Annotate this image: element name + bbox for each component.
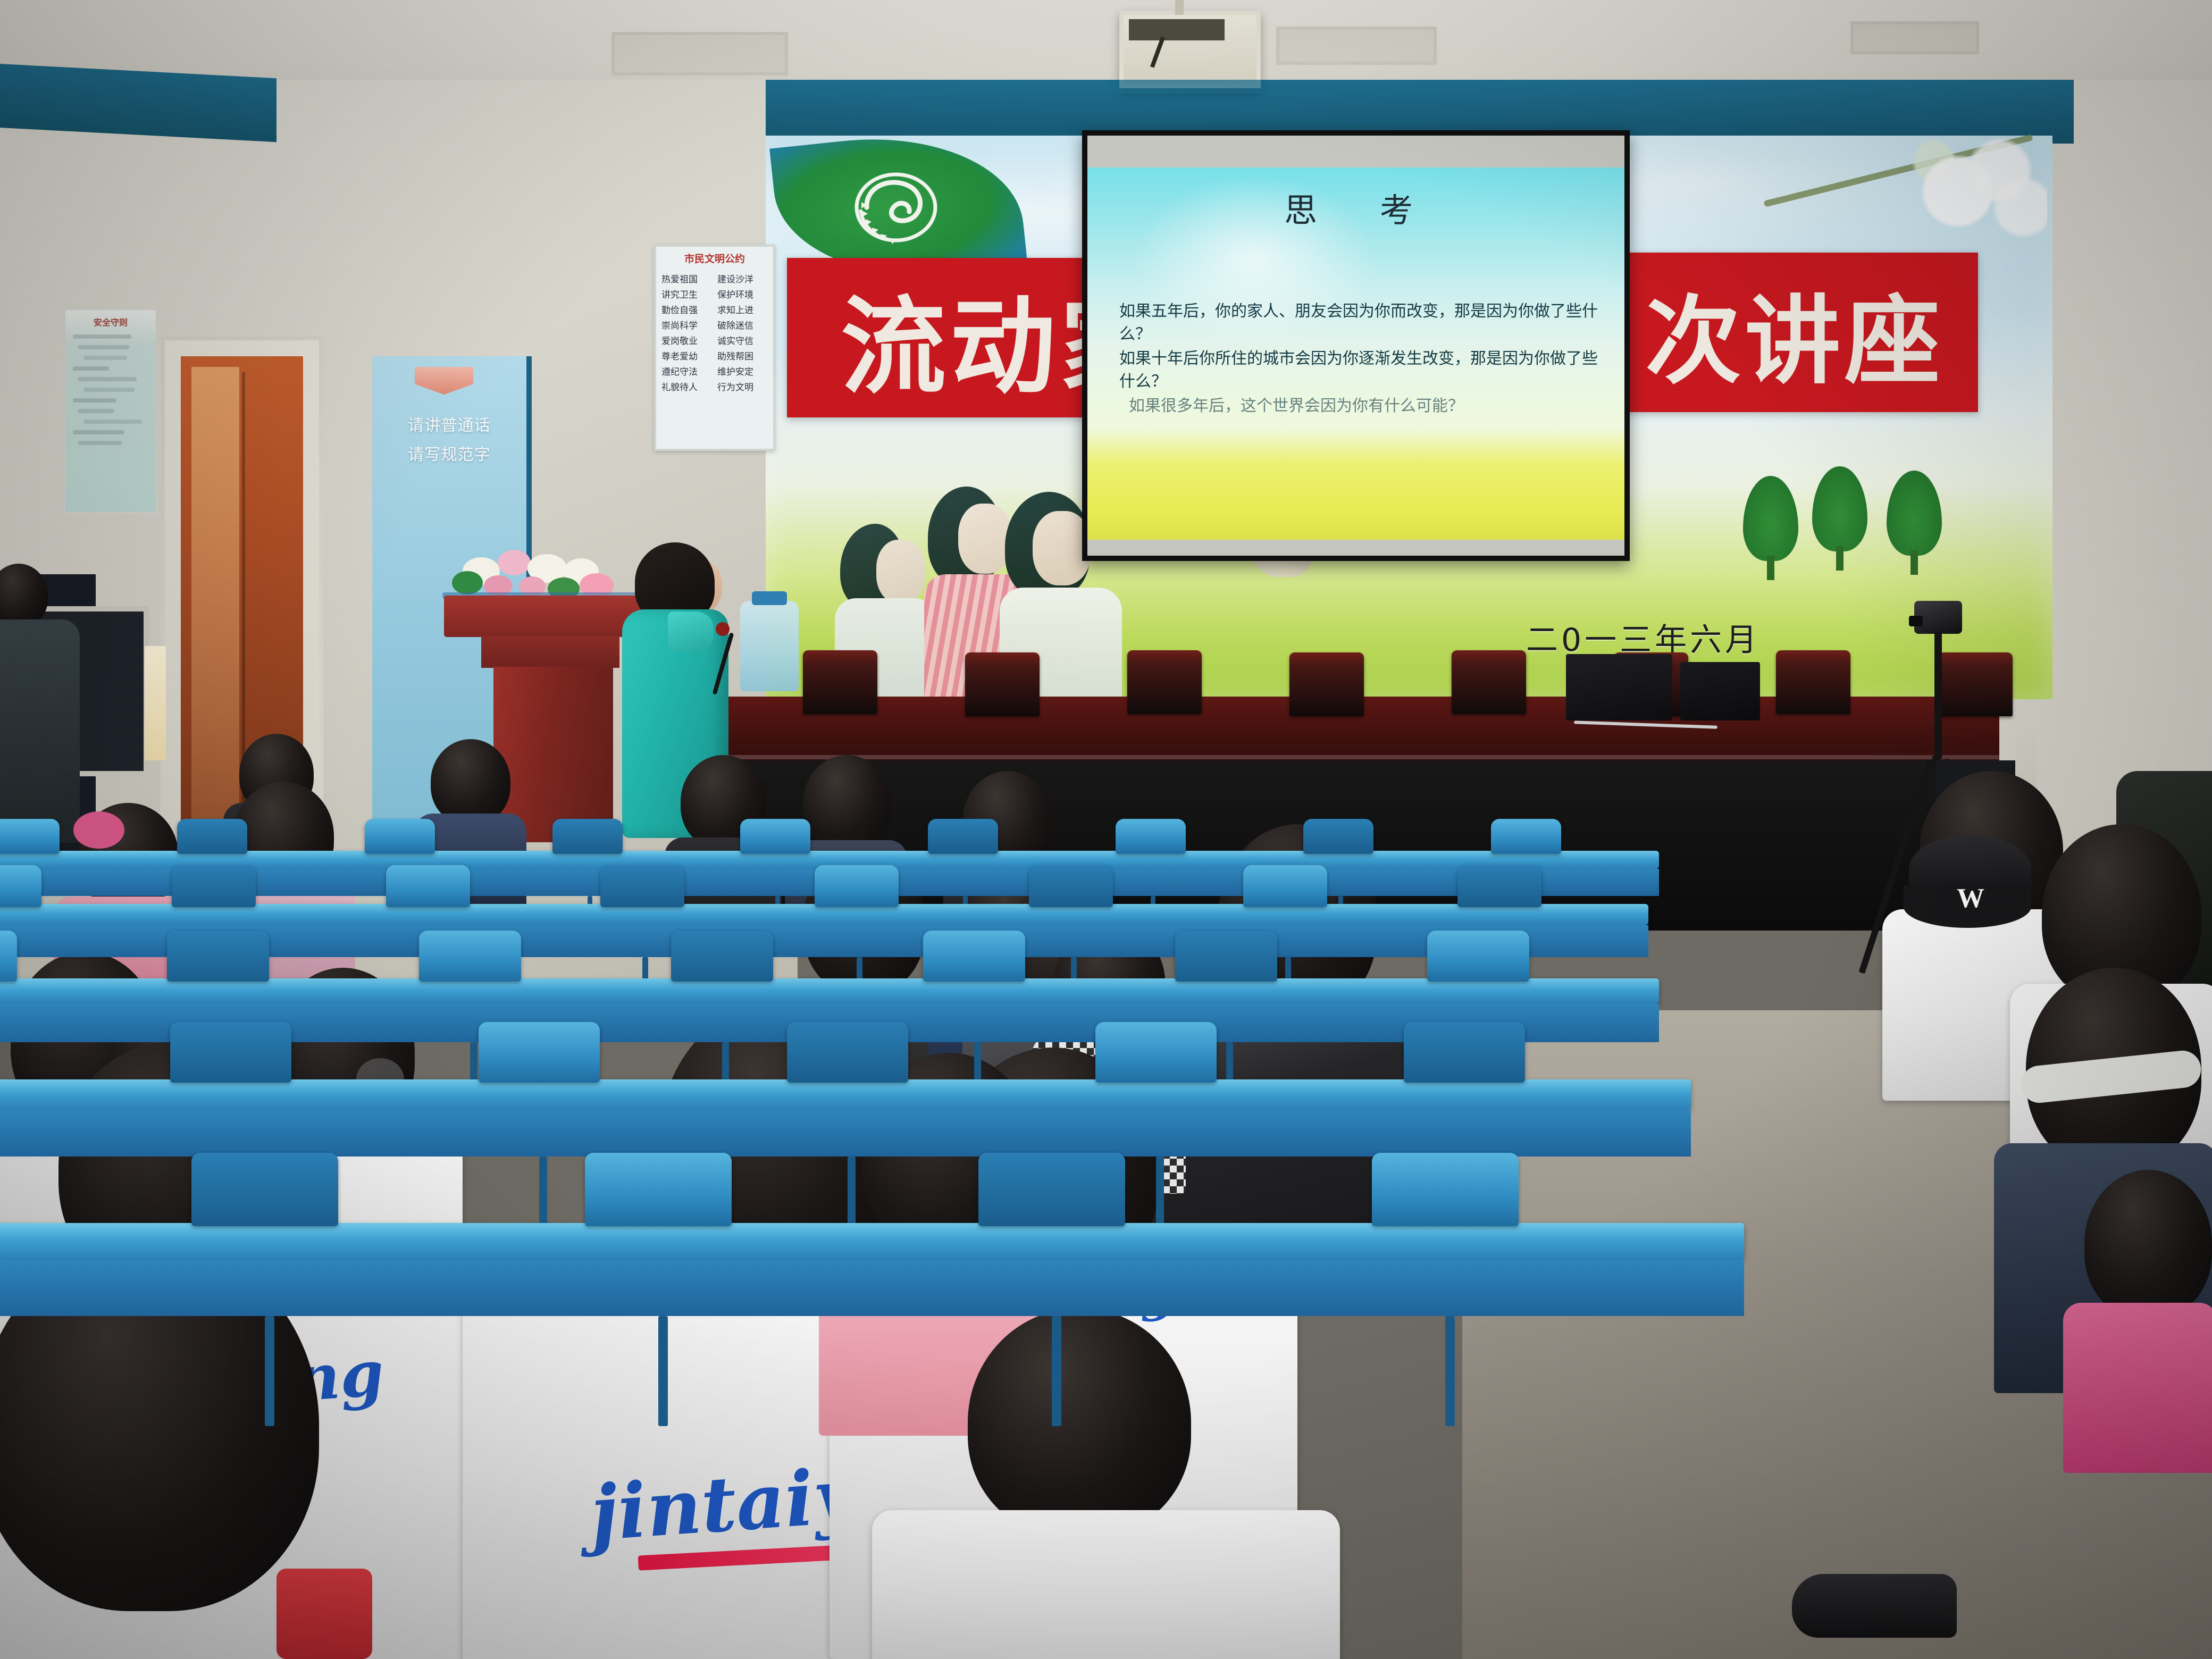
poster-cell: 热爱祖国 [661, 272, 712, 285]
audience-seat[interactable] [815, 865, 899, 907]
audience-seat[interactable] [1404, 1022, 1525, 1083]
projector-mount-pole [1175, 0, 1184, 15]
stage-monitor-2 [1680, 662, 1760, 720]
poster-rows: 热爱祖国建设沙洋讲究卫生保护环境勤俭自强求知上进崇尚科学破除迷信爱岗敬业诚实守信… [656, 267, 773, 397]
stage-edge-highlight [723, 755, 1999, 759]
side-poster-title: 安全守则 [65, 315, 156, 328]
audience-seat[interactable] [1491, 819, 1561, 854]
ceiling-projector [1119, 11, 1261, 88]
poster-cell: 行为文明 [717, 380, 768, 393]
slide-title: 思 考 [1087, 183, 1624, 231]
audience-seat[interactable] [1175, 931, 1277, 982]
desk-surface [0, 978, 1659, 1004]
slide-line-2: 如果十年后你所住的城市会因为你逐渐发生改变，那是因为你做了些什么？ [1119, 348, 1605, 393]
audience-seat[interactable] [1372, 1153, 1519, 1226]
desk-leg [658, 1316, 668, 1426]
stage-chair [1127, 650, 1202, 714]
banner-right-text: 次讲座 [1645, 263, 1944, 402]
desk-leg [1445, 1316, 1455, 1426]
screen-surface: 思 考 如果五年后，你的家人、朋友会因为你而改变，那是因为你做了些什么？ 如果十… [1087, 136, 1624, 556]
audience-seat[interactable] [1457, 865, 1541, 907]
audience-person-right-4 [2063, 1170, 2212, 1468]
audience-seat[interactable] [419, 931, 521, 982]
ceiling-vent-right [1276, 27, 1437, 65]
audience-seat[interactable] [170, 1022, 291, 1083]
audience-seat[interactable] [177, 819, 247, 854]
doorway-light-strip [145, 646, 166, 760]
banner-right: 次讲座 [1611, 253, 1978, 412]
poster-cell: 建设沙洋 [717, 272, 768, 285]
audience-seat[interactable] [552, 819, 623, 854]
side-safety-poster: 安全守则 [64, 308, 157, 514]
slide-line-1: 如果五年后，你的家人、朋友会因为你而改变，那是因为你做了些什么？ [1119, 300, 1605, 346]
pink-hair-band [73, 811, 124, 849]
camera-lens-icon [1909, 616, 1923, 626]
shoe-icon [1792, 1574, 1957, 1638]
audience-seat[interactable] [1303, 819, 1373, 854]
stage-chair [1452, 650, 1526, 714]
side-poster-line [78, 345, 129, 349]
poster-cell: 礼貌待人 [661, 380, 712, 393]
photo-scene: 二0一三年六月 流动家 次讲座 思 考 如果五年后，你的家人、朋友会因为你而改变… [0, 0, 2212, 1659]
desk-surface [0, 1079, 1691, 1110]
desk-surface [0, 1223, 1744, 1260]
water-dispenser-cap [752, 591, 787, 605]
poster-cell: 维护安定 [717, 364, 768, 378]
cabinet-slogan-line2: 请写规范字 [372, 441, 526, 465]
poster-cell: 尊老爱幼 [661, 349, 712, 362]
audience-seat[interactable] [386, 865, 470, 907]
side-poster-line [73, 398, 116, 403]
poster-cell: 破除迷信 [717, 318, 768, 331]
audience-seat[interactable] [787, 1022, 908, 1083]
audience-seat[interactable] [1029, 865, 1113, 907]
poster-title: 市民文明公约 [656, 247, 773, 267]
cap-letter-w: W [1957, 883, 1984, 914]
desk-leg [265, 1316, 274, 1426]
projection-screen: 思 考 如果五年后，你的家人、朋友会因为你而改变，那是因为你做了些什么？ 如果十… [1082, 130, 1630, 561]
side-poster-line [73, 334, 131, 339]
ceiling-vent-far-right [1850, 21, 1979, 54]
microphone-head-icon [716, 622, 730, 636]
poster-cell: 讲究卫生 [661, 287, 712, 300]
poster-cell: 爱岗敬业 [661, 333, 712, 347]
speaker-collar [668, 611, 714, 652]
podium-neck [481, 636, 619, 668]
audience-seat[interactable] [191, 1153, 338, 1226]
desk-surface [0, 904, 1648, 925]
audience-seat[interactable] [1116, 819, 1186, 854]
side-poster-line [78, 409, 114, 413]
stage-chair [1776, 650, 1850, 714]
audience-seat[interactable] [1243, 865, 1327, 907]
audience-seat[interactable] [1427, 931, 1529, 982]
audience-seat[interactable] [928, 819, 998, 854]
side-poster-line [83, 356, 127, 360]
stage-chair [1289, 652, 1364, 716]
audience-seat[interactable] [0, 931, 17, 982]
cabinet-slogan-line1: 请讲普通话 [372, 412, 526, 435]
audience-seat[interactable] [0, 865, 41, 907]
ceiling-vent-left [611, 32, 788, 76]
audience-seat[interactable] [365, 819, 435, 854]
stage-monitor [1566, 654, 1672, 720]
audience-seat[interactable] [0, 819, 60, 854]
audience-seat[interactable] [479, 1022, 600, 1083]
family-association-emblem-icon [845, 165, 946, 250]
audience-seat[interactable] [671, 931, 773, 982]
poster-cell: 求知上进 [717, 303, 768, 316]
audience-person-right-5 [1771, 1468, 1994, 1659]
slide-line-3: 如果很多年后，这个世界会因为你有什么可能？ [1119, 395, 1605, 418]
side-poster-line [83, 388, 135, 392]
stage-chairs [723, 646, 1999, 715]
poster-cell: 诚实守信 [717, 333, 768, 347]
civic-virtue-poster: 市民文明公约 热爱祖国建设沙洋讲究卫生保护环境勤俭自强求知上进崇尚科学破除迷信爱… [654, 245, 775, 451]
projector-shadow [1109, 80, 1263, 94]
poster-cell: 遵纪守法 [661, 364, 712, 378]
audience-seat[interactable] [172, 865, 256, 907]
side-poster-line [83, 420, 142, 424]
student-front-right-scarf [904, 1308, 1308, 1659]
side-poster-line [78, 441, 122, 445]
desk-leg [1052, 1316, 1061, 1426]
side-poster-line [78, 377, 137, 381]
red-scarf-foreground [276, 1569, 372, 1659]
audience-seat[interactable] [600, 865, 684, 907]
stage-chair [803, 650, 877, 714]
water-dispenser [740, 601, 799, 691]
audience-seat[interactable] [740, 819, 810, 854]
audience-seat[interactable] [923, 931, 1025, 982]
shield-badge-icon [415, 367, 473, 395]
poster-cell: 保护环境 [717, 287, 768, 300]
slide-body: 如果五年后，你的家人、朋友会因为你而改变，那是因为你做了些什么？ 如果十年后你所… [1119, 300, 1605, 420]
audience-seat[interactable] [167, 931, 269, 982]
audience-seat[interactable] [1095, 1022, 1217, 1083]
audience-seat[interactable] [585, 1153, 732, 1226]
presentation-slide: 思 考 如果五年后，你的家人、朋友会因为你而改变，那是因为你做了些什么？ 如果十… [1087, 167, 1624, 540]
audience-seat[interactable] [978, 1153, 1125, 1226]
side-poster-line [73, 430, 124, 434]
flower-arrangement [452, 547, 627, 600]
side-poster-lines [65, 334, 156, 445]
poster-cell: 勤俭自强 [661, 303, 712, 316]
desk-front-panel [0, 1110, 1691, 1157]
poster-cell: 崇尚科学 [661, 318, 712, 331]
side-poster-line [73, 366, 109, 371]
poster-cell: 助残帮困 [717, 349, 768, 362]
desk-front-panel [0, 1260, 1744, 1316]
stage-chair [965, 652, 1040, 716]
